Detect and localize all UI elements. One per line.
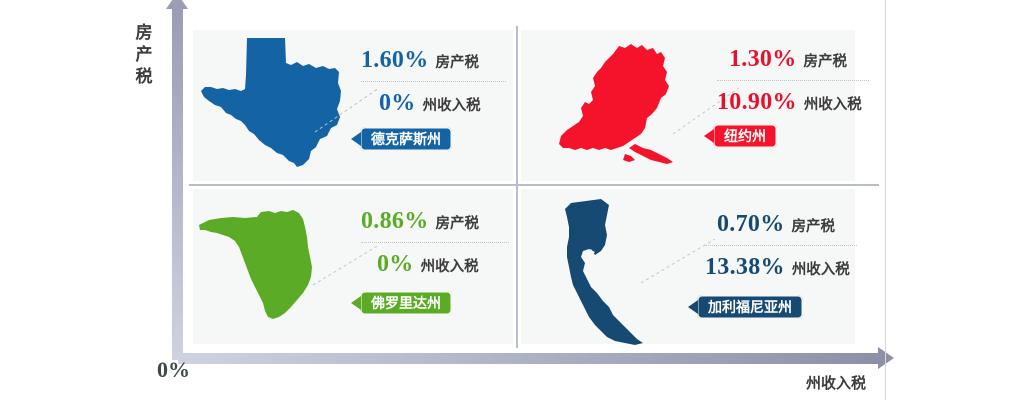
state-callout-label: 德克萨斯州 [371,129,441,149]
quadrant-california: 0.70% 房产税 13.38% 州收入税 加利福尼亚州 [521,189,855,344]
stat-value: 0% [377,252,414,276]
stats-florida: 0.86% 房产税 0% 州收入税 [361,209,509,276]
quadrant-new-york: 1.30% 房产税 10.90% 州收入税 纽约州 [521,30,855,181]
stat-row-income-tax: 0% 州收入税 [361,252,509,276]
stats-new-york: 1.30% 房产税 10.90% 州收入税 [717,47,869,114]
california-map-icon [557,197,687,347]
y-axis-arrow [172,8,183,360]
stat-label: 房产税 [436,212,480,233]
stat-value: 0% [379,91,416,115]
state-callout-california[interactable]: 加利福尼亚州 [697,295,803,319]
stats-california: 0.70% 房产税 13.38% 州收入税 [705,212,857,279]
florida-map-icon [195,203,345,333]
stat-row-property-tax: 1.30% 房产税 [717,47,869,71]
stat-label: 房产税 [792,215,836,236]
stat-value: 0.86% [361,209,429,233]
stat-row-property-tax: 0.86% 房产税 [361,209,509,233]
callout-tail-icon [351,296,361,310]
callout-tail-icon [704,129,714,143]
stat-separator [361,81,506,82]
new-york-map-icon [549,38,709,183]
stat-row-income-tax: 0% 州收入税 [361,91,506,115]
stat-label: 州收入税 [792,258,850,279]
state-callout-florida[interactable]: 佛罗里达州 [360,291,452,315]
quadrant-divider-vertical [516,26,518,348]
x-axis-arrow [178,353,878,364]
stat-row-income-tax: 13.38% 州收入税 [705,255,857,279]
texas-map-icon [199,35,347,175]
stat-separator [705,245,857,246]
stat-row-property-tax: 1.60% 房产税 [361,48,506,72]
stat-label: 州收入税 [804,93,862,114]
stat-value: 13.38% [705,255,785,279]
stat-label: 房产税 [804,50,848,71]
quadrant-chart: 房产税 州收入税 0% 1.60% 房产税 0% 州收入税 德克萨斯州 [0,0,1024,400]
stat-label: 房产税 [436,51,480,72]
quadrant-texas: 1.60% 房产税 0% 州收入税 德克萨斯州 [193,30,513,181]
origin-label: 0% [157,357,190,383]
stat-row-property-tax: 0.70% 房产税 [705,212,857,236]
stat-value: 0.70% [717,212,785,236]
stat-label: 州收入税 [421,255,479,276]
stat-row-income-tax: 10.90% 州收入税 [717,90,869,114]
stat-separator [361,242,509,243]
callout-tail-icon [351,132,361,146]
stats-texas: 1.60% 房产税 0% 州收入税 [361,48,506,115]
y-axis-label: 房产税 [131,22,157,87]
figure-right-border [885,0,886,400]
stat-label: 州收入税 [423,94,481,115]
quadrant-divider-horizontal [189,184,879,186]
state-callout-label: 佛罗里达州 [371,293,441,313]
state-callout-label: 加利福尼亚州 [708,297,792,317]
stat-value: 1.30% [729,47,797,71]
stat-value: 1.60% [361,48,429,72]
state-callout-new-york[interactable]: 纽约州 [713,124,777,148]
state-callout-label: 纽约州 [724,126,766,146]
state-callout-texas[interactable]: 德克萨斯州 [360,127,452,151]
x-axis-label: 州收入税 [806,372,866,393]
callout-tail-icon [688,300,698,314]
y-axis-arrowhead-icon [166,0,188,9]
stat-value: 10.90% [717,90,797,114]
stat-separator [717,80,869,81]
quadrant-florida: 0.86% 房产税 0% 州收入税 佛罗里达州 [193,189,513,344]
x-axis-arrowhead-icon [878,347,894,369]
